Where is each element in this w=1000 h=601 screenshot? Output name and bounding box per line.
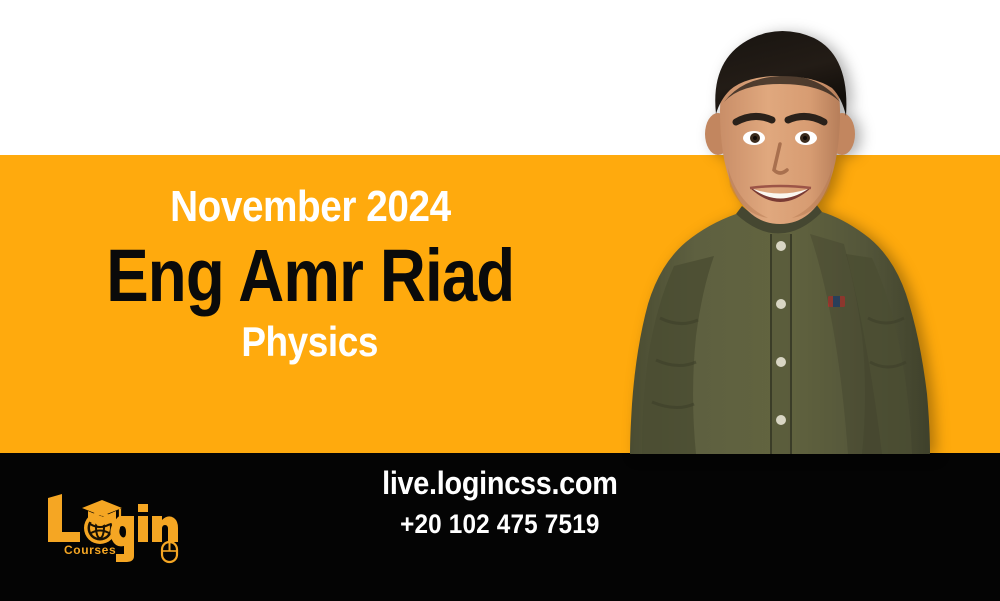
instructor-photo — [600, 18, 960, 454]
headline-block: November 2024 Eng Amr Riad Physics — [0, 185, 620, 405]
brand-logo[interactable]: Courses — [42, 484, 182, 564]
course-month-label: November 2024 — [170, 185, 451, 229]
phone-number[interactable]: +20 102 475 7519 — [400, 510, 600, 540]
svg-text:Courses: Courses — [64, 543, 116, 557]
contact-block: live.logincss.com +20 102 475 7519 — [200, 466, 800, 576]
instructor-name: Eng Amr Riad — [106, 237, 514, 315]
course-promo-banner: November 2024 Eng Amr Riad Physics live.… — [0, 0, 1000, 601]
course-subject: Physics — [242, 321, 379, 363]
website-link[interactable]: live.logincss.com — [382, 466, 618, 501]
